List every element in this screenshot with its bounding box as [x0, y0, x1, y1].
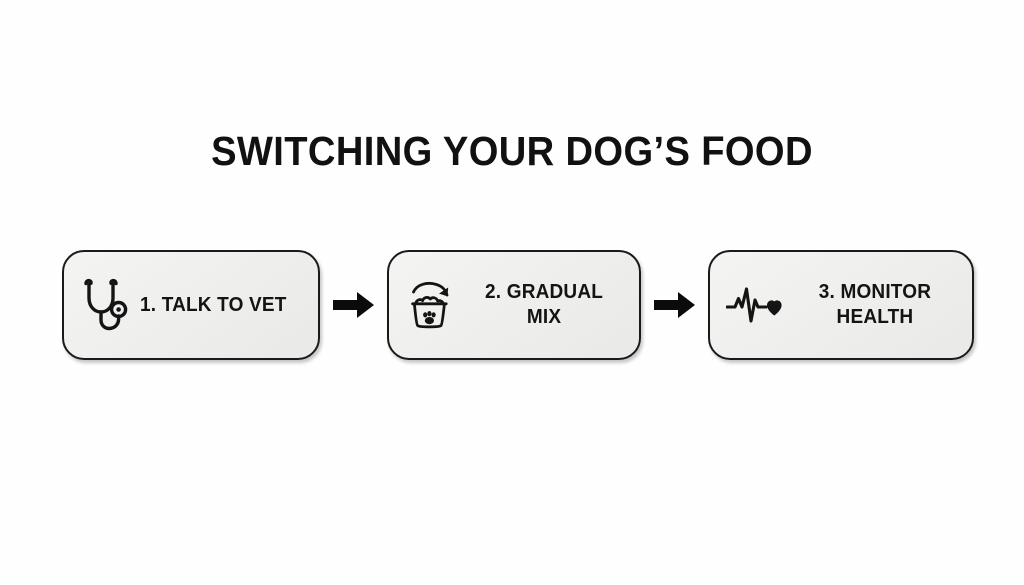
step-card-monitor-health[interactable]: 3. MONITOR HEALTH	[708, 250, 974, 360]
step-label: 3. MONITOR HEALTH	[798, 280, 952, 330]
infographic-canvas: SWITCHING YOUR DOG’S FOOD 1. TALK TO VET	[0, 0, 1024, 585]
food-bowl-transition-icon	[405, 279, 459, 331]
step-label: 1. TALK TO VET	[140, 293, 287, 318]
heartbeat-ecg-icon	[726, 284, 788, 326]
step-card-gradual-mix[interactable]: 2. GRADUAL MIX	[387, 250, 641, 360]
stethoscope-icon	[80, 278, 130, 332]
step-card-talk-to-vet[interactable]: 1. TALK TO VET	[62, 250, 320, 360]
step-label: 2. GRADUAL MIX	[469, 280, 619, 330]
arrow-right-icon	[331, 288, 377, 322]
page-title: SWITCHING YOUR DOG’S FOOD	[36, 128, 988, 175]
arrow-right-icon	[652, 288, 698, 322]
process-flow: 1. TALK TO VET	[62, 250, 974, 360]
